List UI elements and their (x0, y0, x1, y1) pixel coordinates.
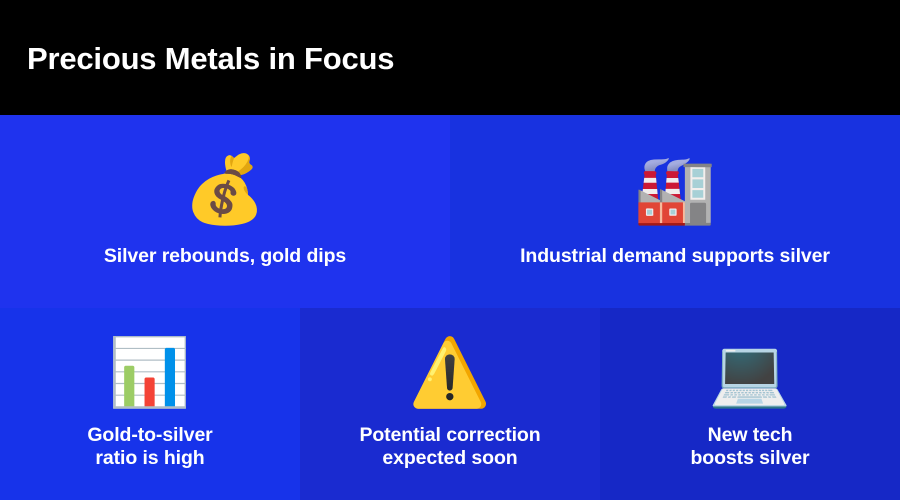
card-potential-correction[interactable]: ⚠️ Potential correction expected soon (300, 308, 600, 500)
infographic-slide: Precious Metals in Focus 💰 Silver reboun… (0, 0, 900, 500)
card-label: New tech boosts silver (681, 424, 820, 470)
card-label: Gold-to-silver ratio is high (77, 424, 222, 470)
card-gold-to-silver-ratio[interactable]: 📊 Gold-to-silver ratio is high (0, 308, 300, 500)
slide-header: Precious Metals in Focus (0, 0, 900, 115)
card-row-top: 💰 Silver rebounds, gold dips 🏭 Industria… (0, 115, 900, 308)
card-label: Industrial demand supports silver (510, 245, 840, 268)
warning-icon: ⚠️ (409, 340, 491, 406)
laptop-icon: 💻 (709, 340, 791, 406)
page-title: Precious Metals in Focus (27, 41, 394, 77)
bar-chart-icon: 📊 (109, 340, 191, 406)
card-industrial-demand[interactable]: 🏭 Industrial demand supports silver (450, 115, 900, 308)
card-new-tech[interactable]: 💻 New tech boosts silver (600, 308, 900, 500)
card-label: Silver rebounds, gold dips (94, 245, 356, 268)
card-grid: 💰 Silver rebounds, gold dips 🏭 Industria… (0, 115, 900, 500)
card-row-bottom: 📊 Gold-to-silver ratio is high ⚠️ Potent… (0, 308, 900, 500)
card-label: Potential correction expected soon (349, 424, 550, 470)
factory-icon: 🏭 (634, 157, 716, 223)
card-silver-rebounds[interactable]: 💰 Silver rebounds, gold dips (0, 115, 450, 308)
money-bag-icon: 💰 (184, 157, 266, 223)
